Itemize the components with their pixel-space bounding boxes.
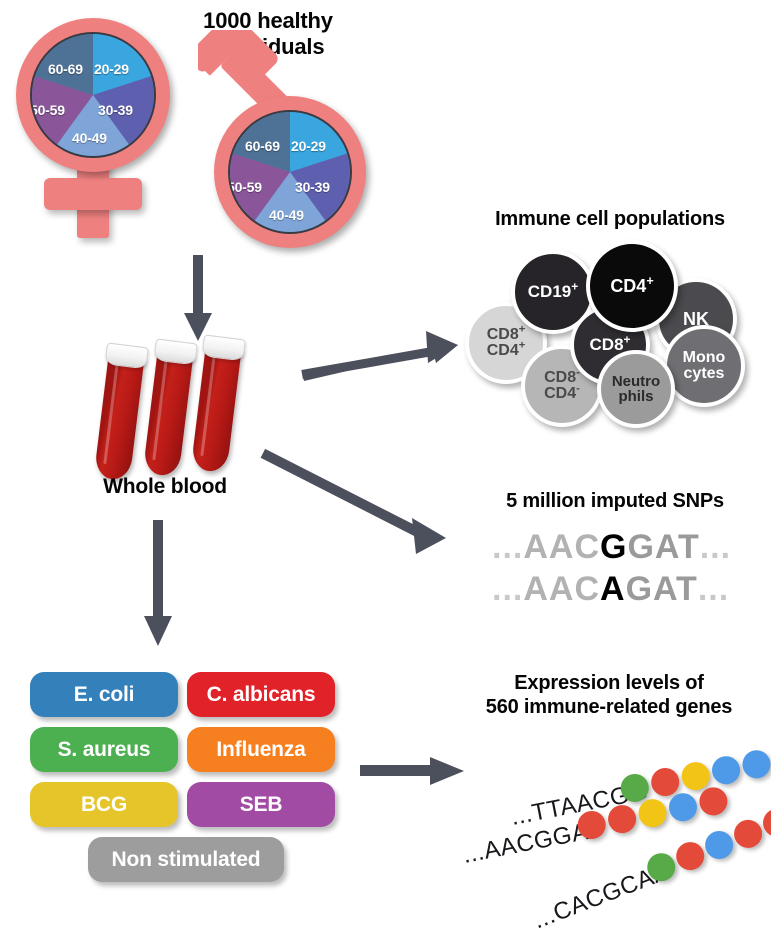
- blood-tube-3: [189, 335, 242, 483]
- arrow-blood-to-stimuli: [138, 520, 178, 650]
- cell-label-monocytes: Monocytes: [683, 350, 726, 383]
- snp1-prefix: ...: [492, 528, 523, 567]
- expression-title-line1: Expression levels of: [450, 672, 768, 696]
- stimulus-non-stimulated[interactable]: Non stimulated: [88, 837, 284, 882]
- stimulus-non-stimulated-label: Non stimulated: [112, 848, 261, 872]
- snp2-left: AAC: [523, 570, 600, 609]
- immune-title: Immune cell populations: [455, 208, 765, 232]
- female-pie-label-30-39: 30-39: [98, 102, 133, 118]
- female-pie-label-40-49: 40-49: [72, 130, 107, 146]
- arrow-blood-to-immune: [300, 325, 460, 385]
- stimulus-c-albicans-label: C. albicans: [207, 683, 316, 707]
- snp1-right: GAT: [627, 528, 699, 567]
- male-age-pie: 20-29 30-39 40-49 50-59 60-69: [228, 110, 352, 234]
- expression-title: Expression levels of 560 immune-related …: [450, 672, 768, 719]
- stimulus-c-albicans[interactable]: C. albicans: [187, 672, 335, 717]
- immune-cell-neutrophils: Neutrophils: [597, 350, 675, 428]
- strand-1-bead-4: [710, 754, 743, 787]
- snp2-prefix: ...: [492, 570, 523, 609]
- stimulus-s-aureus-label: S. aureus: [58, 738, 151, 762]
- stimulus-seb[interactable]: SEB: [187, 782, 335, 827]
- strand-1-bead-5: [740, 748, 771, 781]
- male-symbol: 20-29 30-39 40-49 50-59 60-69: [198, 30, 428, 250]
- female-pie-label-60-69: 60-69: [48, 61, 83, 77]
- stimulus-influenza[interactable]: Influenza: [187, 727, 335, 772]
- female-pie-label-50-59: 50-59: [30, 102, 65, 118]
- blood-tube-2: [141, 339, 194, 487]
- male-pie-label-60-69: 60-69: [245, 138, 280, 154]
- expression-strands-group: ...TTAACGG ...AACGGAT ...CACGCAA: [440, 730, 771, 922]
- immune-cells-group: CD19+ CD4+ NK CD8+CD4+ CD8+ Monocytes CD…: [455, 240, 771, 430]
- snp1-variant: G: [600, 528, 627, 567]
- snp2-right: GAT: [626, 570, 698, 609]
- cell-label-cd19: CD19+: [528, 283, 578, 300]
- stimulus-bcg-label: BCG: [81, 793, 127, 817]
- stimuli-group: E. coli C. albicans S. aureus Influenza …: [30, 672, 350, 892]
- expression-title-line2: 560 immune-related genes: [450, 696, 768, 720]
- female-age-pie: 20-29 30-39 40-49 50-59 60-69: [30, 32, 156, 158]
- immune-cell-monocytes: Monocytes: [663, 325, 745, 407]
- female-pie-label-20-29: 20-29: [94, 61, 129, 77]
- tube-blood-fill: [143, 349, 194, 477]
- immune-cell-cd4: CD4+: [586, 240, 678, 332]
- strand-3-bead-2: [672, 838, 708, 874]
- female-symbol: 20-29 30-39 40-49 50-59 60-69: [8, 12, 178, 242]
- blood-tube-1: [92, 343, 145, 491]
- blood-tubes-group: [100, 335, 270, 475]
- male-pie-label-20-29: 20-29: [291, 138, 326, 154]
- stimulus-s-aureus[interactable]: S. aureus: [30, 727, 178, 772]
- tube-blood-fill: [191, 345, 242, 473]
- stimulus-e-coli[interactable]: E. coli: [30, 672, 178, 717]
- stimulus-e-coli-label: E. coli: [74, 683, 134, 707]
- arrow-blood-to-snp: [262, 450, 452, 570]
- tube-blood-fill: [94, 353, 145, 481]
- snp-allele-1: ...AACGGAT...: [492, 528, 731, 567]
- male-pie-label-30-39: 30-39: [295, 179, 330, 195]
- arrow-cohort-to-blood: [178, 255, 218, 345]
- figure-canvas: 1000 healthy individuals 20-29 30-39 40-…: [0, 0, 771, 922]
- male-pie-label-40-49: 40-49: [269, 207, 304, 223]
- snp-title: 5 million imputed SNPs: [470, 490, 760, 514]
- snp1-suffix: ...: [700, 528, 731, 567]
- snp1-left: AAC: [523, 528, 600, 567]
- snp-allele-2: ...AACAGAT...: [492, 570, 729, 609]
- snp2-suffix: ...: [698, 570, 729, 609]
- cell-label-cd4: CD4+: [610, 277, 653, 295]
- cell-label-neutrophils: Neutrophils: [612, 374, 660, 405]
- stimulus-influenza-label: Influenza: [216, 738, 305, 762]
- cell-label-cd8-cd4-positive: CD8+CD4+: [487, 327, 526, 360]
- stimulus-seb-label: SEB: [240, 793, 283, 817]
- stimulus-bcg[interactable]: BCG: [30, 782, 178, 827]
- female-stem-horizontal: [44, 178, 142, 210]
- cell-label-cd8-cd4-negative: CD8-CD4-: [544, 370, 580, 403]
- snp2-variant: A: [600, 570, 626, 609]
- whole-blood-label: Whole blood: [70, 475, 260, 500]
- male-pie-label-50-59: 50-59: [228, 179, 262, 195]
